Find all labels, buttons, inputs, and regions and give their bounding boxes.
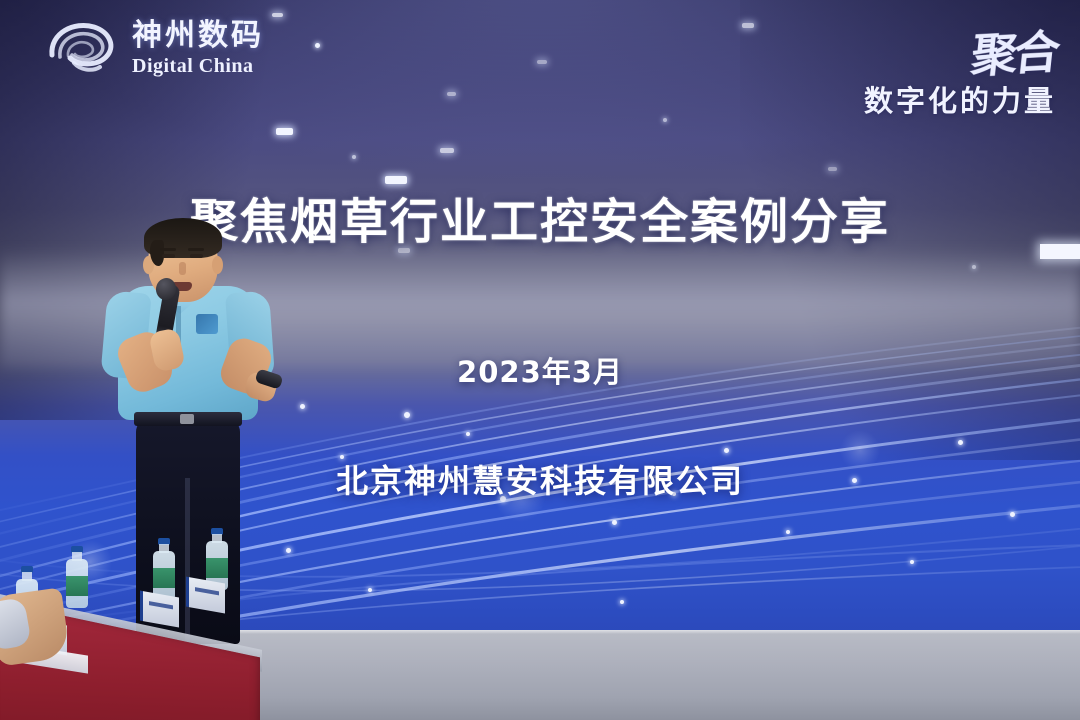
brand-name-en: Digital China xyxy=(132,56,264,76)
event-slogan: 聚合 数字化的力量 xyxy=(864,18,1056,120)
conference-photo: 神州数码 Digital China 聚合 数字化的力量 聚焦烟草行业工控安全案… xyxy=(0,0,1080,720)
swoosh-spiral-logo-icon xyxy=(44,17,122,79)
name-card xyxy=(186,577,225,614)
speaker-eye-right xyxy=(190,254,203,258)
speaker-eyebrow-left xyxy=(160,248,176,251)
slogan-subtitle: 数字化的力量 xyxy=(864,78,1056,120)
speaker-belt xyxy=(134,412,242,426)
bottle-label xyxy=(66,576,88,596)
speaker-chest-logo-icon xyxy=(196,314,218,334)
bottle-label xyxy=(206,558,228,578)
name-card xyxy=(140,591,179,628)
brand-name-cn: 神州数码 xyxy=(132,21,264,51)
brand-logo-text: 神州数码 Digital China xyxy=(132,21,264,76)
speaker-nose xyxy=(179,262,186,275)
brand-logo: 神州数码 Digital China xyxy=(44,17,264,79)
speaker-ear-right xyxy=(212,256,223,274)
water-bottle xyxy=(153,538,175,600)
water-bottle xyxy=(66,546,88,608)
bottle-label xyxy=(153,568,175,588)
speaker-eye-left xyxy=(162,254,175,258)
speaker-eyebrow-right xyxy=(188,248,204,251)
speaker-hair xyxy=(144,218,222,258)
slogan-calligraphy: 聚合 xyxy=(968,16,1060,86)
